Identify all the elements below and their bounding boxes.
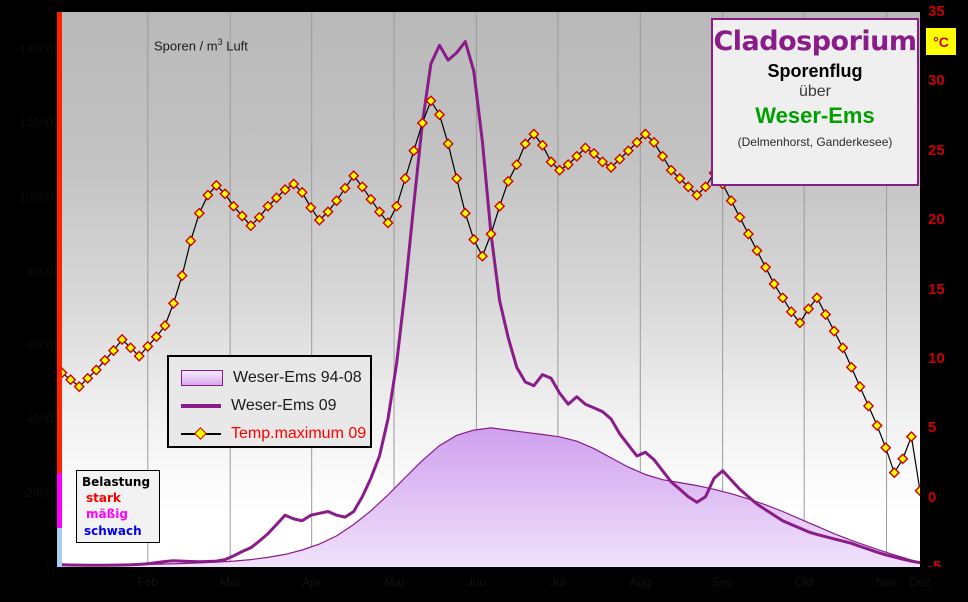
month-label-feb: Feb	[137, 575, 158, 589]
temp-marker	[890, 468, 899, 477]
right-tick-5: 5	[928, 419, 936, 436]
legend-label-2: Temp.maximum 09	[231, 425, 366, 443]
temp-marker	[727, 196, 736, 205]
subtitle: Sporenflug	[713, 61, 917, 82]
temp-marker	[426, 96, 435, 105]
month-label-aug: Aug	[630, 575, 651, 589]
temp-marker	[178, 271, 187, 280]
legend-item-2[interactable]: Temp.maximum 09	[181, 420, 370, 448]
left-tick-6000: 6000	[26, 338, 53, 352]
right-tick-0: 0	[928, 489, 936, 506]
temp-marker	[512, 160, 521, 169]
right-tick-35: 35	[928, 3, 945, 20]
month-label-mai: Mai	[384, 575, 403, 589]
location-label: (Delmenhorst, Ganderkesee)	[713, 135, 917, 149]
temp-marker	[461, 209, 470, 218]
belastung-legend: Belastung stark mäßig schwach	[76, 470, 160, 543]
month-label-mar: Mar	[220, 575, 241, 589]
temp-marker	[366, 195, 375, 204]
legend-item-1[interactable]: Weser-Ems 09	[181, 392, 370, 420]
right-tick-20: 20	[928, 211, 945, 228]
bottom-month-axis: FebMarAprMaiJunJulAugSepOktNovDez	[0, 567, 968, 602]
temp-marker	[735, 213, 744, 222]
belastung-level-schwach: schwach	[82, 523, 159, 539]
belastung-level-maessig: mäßig	[82, 506, 159, 522]
temp-marker	[838, 343, 847, 352]
temp-marker	[495, 202, 504, 211]
left-tick-12000: 12000	[20, 116, 53, 130]
genus-title: Cladosporium	[713, 26, 917, 57]
temp-marker	[898, 454, 907, 463]
temp-marker	[881, 443, 890, 452]
month-label-sep: Sep	[712, 575, 733, 589]
temp-marker	[478, 252, 487, 261]
right-tick-25: 25	[928, 142, 945, 159]
temp-marker	[873, 421, 882, 430]
temp-marker	[469, 235, 478, 244]
temp-marker	[409, 146, 418, 155]
temp-marker	[752, 246, 761, 255]
temp-marker	[504, 177, 513, 186]
left-tick-14000: 14000	[20, 42, 53, 56]
temp-marker	[761, 263, 770, 272]
month-label-okt: Okt	[795, 575, 814, 589]
month-label-jun: Jun	[467, 575, 486, 589]
left-axis-title: Sporen / m3 Luft	[154, 37, 248, 53]
temp-marker	[855, 382, 864, 391]
legend-swatch-line	[181, 404, 221, 408]
right-tick-30: 30	[928, 72, 945, 89]
left-tick-2000: 2000	[26, 486, 53, 500]
temp-marker	[195, 209, 204, 218]
temp-marker	[778, 293, 787, 302]
legend-label-0: Weser-Ems 94-08	[233, 369, 362, 387]
belastung-level-stark: stark	[82, 490, 159, 506]
title-box: Cladosporium Sporenflug über Weser-Ems (…	[711, 18, 919, 186]
left-axis: 14000120001000080006000400020000	[0, 0, 57, 602]
legend-swatch-area	[181, 370, 223, 386]
month-label-jul: Jul	[550, 575, 565, 589]
legend-label-1: Weser-Ems 09	[231, 397, 337, 415]
temp-marker	[907, 432, 916, 441]
chart-screenshot: 14000120001000080006000400020000 Sporen …	[0, 0, 968, 602]
temp-marker	[486, 229, 495, 238]
temp-marker	[186, 236, 195, 245]
temp-marker	[341, 184, 350, 193]
temp-marker	[770, 279, 779, 288]
preposition: über	[713, 83, 917, 101]
temp-marker	[821, 310, 830, 319]
temp-marker	[392, 202, 401, 211]
temp-marker	[306, 203, 315, 212]
temp-marker	[169, 299, 178, 308]
left-tick-8000: 8000	[26, 264, 53, 278]
month-label-apr: Apr	[302, 575, 321, 589]
series-legend: Weser-Ems 94-08Weser-Ems 09Temp.maximum …	[167, 355, 372, 448]
left-tick-10000: 10000	[20, 190, 53, 204]
legend-item-0[interactable]: Weser-Ems 94-08	[181, 364, 370, 392]
temp-marker	[452, 174, 461, 183]
month-label-nov: Nov	[876, 575, 897, 589]
temp-marker	[864, 401, 873, 410]
temp-marker	[401, 174, 410, 183]
temp-marker	[658, 152, 667, 161]
left-tick-4000: 4000	[26, 412, 53, 426]
degree-celsius-badge: °C	[926, 28, 956, 55]
temp-marker	[744, 229, 753, 238]
temp-marker	[418, 118, 427, 127]
series-area-weser-ems-94-08	[62, 428, 920, 567]
belastung-title: Belastung	[82, 474, 159, 490]
temp-marker	[830, 327, 839, 336]
month-label-dez: Dez	[909, 575, 930, 589]
legend-swatch-temp-marker	[181, 428, 221, 440]
right-tick-15: 15	[928, 281, 945, 298]
right-tick-10: 10	[928, 350, 945, 367]
temp-marker	[444, 139, 453, 148]
region-title: Weser-Ems	[713, 103, 917, 129]
temp-marker	[847, 363, 856, 372]
temp-marker	[435, 110, 444, 119]
right-temperature-axis: °C 35302520151050-5	[920, 0, 968, 602]
